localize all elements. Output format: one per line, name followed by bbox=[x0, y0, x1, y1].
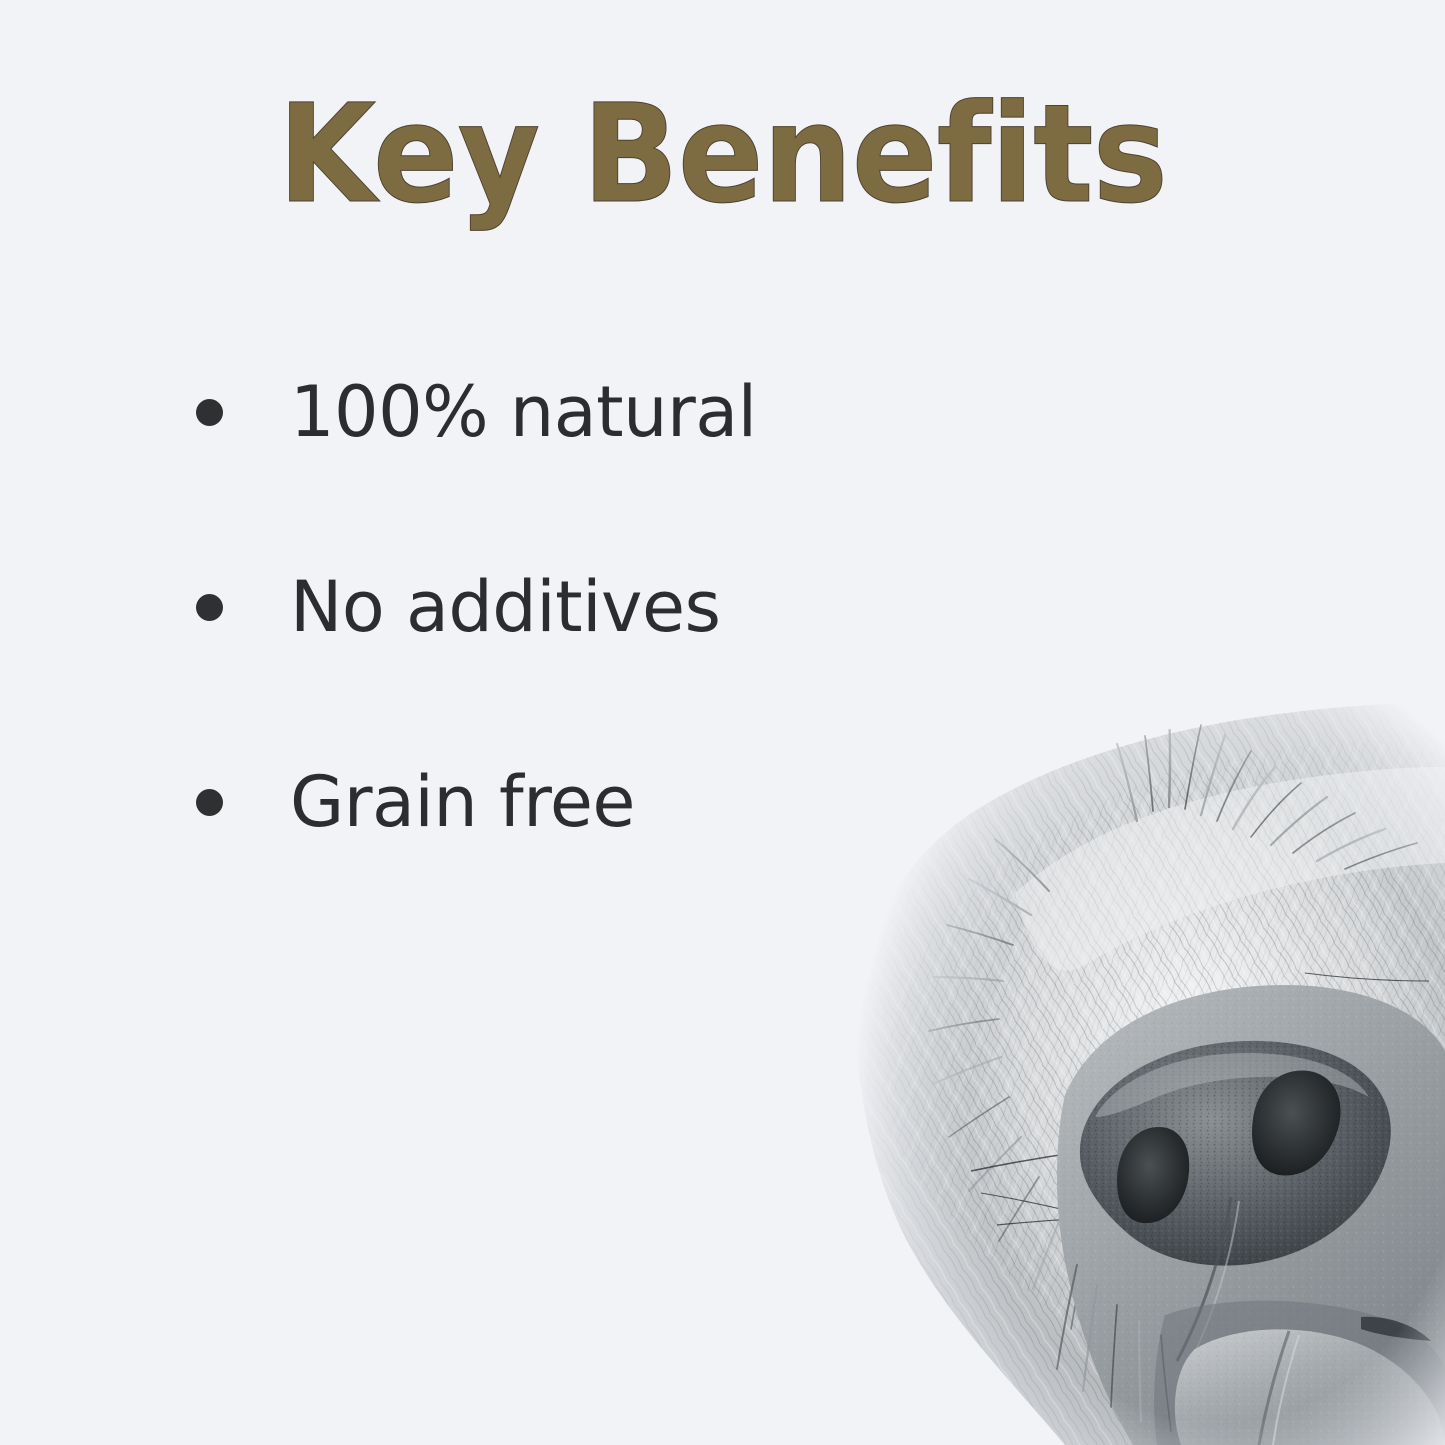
chew-treat bbox=[1175, 1329, 1445, 1445]
bullet-icon bbox=[196, 399, 223, 426]
benefit-label: No additives bbox=[290, 572, 721, 642]
key-benefits-infographic: Key Benefits 100% natural No additives G… bbox=[0, 0, 1445, 1445]
dog-muzzle bbox=[1057, 985, 1445, 1445]
page-title: Key Benefits bbox=[51, 86, 1395, 225]
benefits-list: 100% natural No additives Grain free bbox=[196, 366, 916, 848]
bullet-icon bbox=[196, 789, 223, 816]
bullet-icon bbox=[196, 594, 223, 621]
list-item: 100% natural bbox=[196, 366, 916, 458]
dog-nostril-left bbox=[1117, 1127, 1189, 1223]
list-item: No additives bbox=[196, 561, 916, 653]
benefit-label: Grain free bbox=[290, 767, 635, 837]
dog-nostril-right bbox=[1252, 1070, 1341, 1175]
dog-nose bbox=[1080, 1041, 1391, 1266]
list-item: Grain free bbox=[196, 756, 916, 848]
benefit-label: 100% natural bbox=[290, 377, 757, 447]
dog-head-fur bbox=[853, 701, 1445, 1445]
